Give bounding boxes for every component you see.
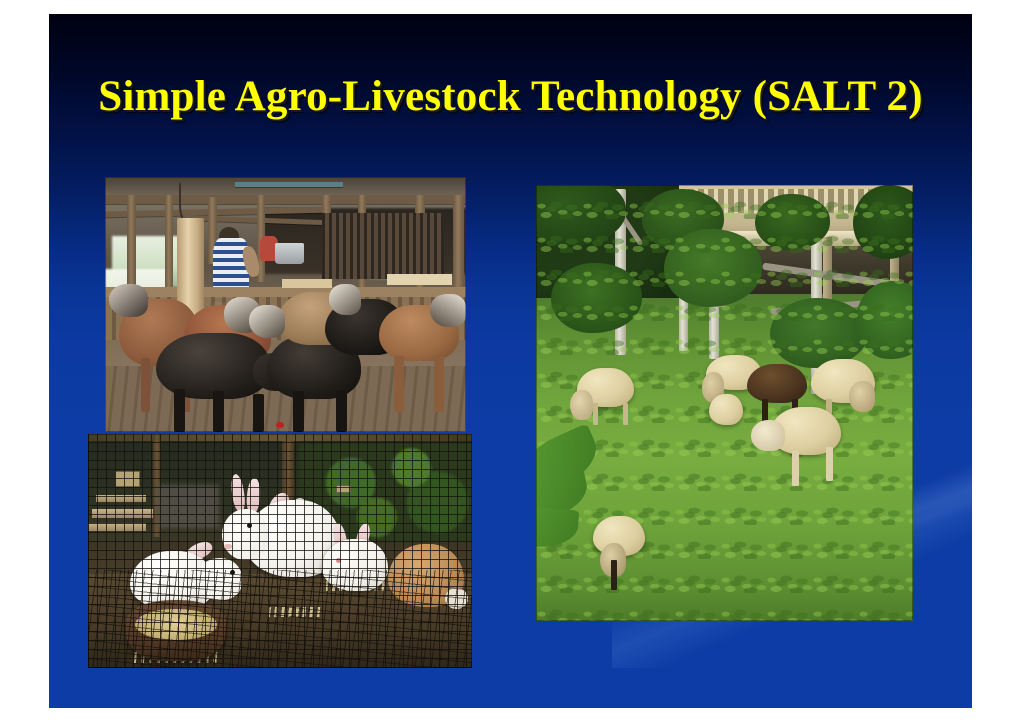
goat-head xyxy=(329,284,361,315)
sheep-head xyxy=(570,390,593,421)
barn-rail-plank xyxy=(282,279,333,288)
goat-head xyxy=(109,284,149,317)
cage-post xyxy=(88,434,472,441)
cage-label-tag xyxy=(336,485,351,493)
goat-head xyxy=(249,305,285,338)
cage-shadow-block xyxy=(157,485,218,527)
barn-slat-wall xyxy=(322,213,445,279)
sheep-head xyxy=(849,381,875,412)
rabbit-nose xyxy=(224,544,232,549)
cage-floor-pellets xyxy=(268,607,322,616)
sheep-leg xyxy=(826,447,833,482)
goat-leg xyxy=(213,391,224,432)
photo-goats-in-barn xyxy=(105,177,466,432)
barn-rail-plank xyxy=(387,274,452,285)
barn-beam xyxy=(235,182,343,187)
sheep-leg xyxy=(611,560,617,591)
goat-leg xyxy=(293,391,304,432)
goat-leg xyxy=(253,394,264,432)
rabbit-head xyxy=(222,509,268,560)
sheep-dark xyxy=(747,364,807,403)
barn-beam xyxy=(105,195,466,204)
barn-post xyxy=(165,195,173,297)
barn-pen-rail-top xyxy=(105,287,466,297)
photo-sheep-grazing xyxy=(536,185,913,621)
cage-plank xyxy=(92,509,161,518)
barn-red-marker xyxy=(276,422,283,429)
presentation-slide: Simple Agro-Livestock Technology (SALT 2… xyxy=(49,14,972,708)
cage-plank xyxy=(88,523,146,531)
sheep-leg xyxy=(593,403,598,425)
rabbit-feed-bowl xyxy=(126,600,226,661)
cage-label-tag xyxy=(115,471,140,486)
rabbit-feed-mash xyxy=(135,609,217,641)
slide-canvas: Simple Agro-Livestock Technology (SALT 2… xyxy=(0,0,1024,724)
goat-leg xyxy=(434,356,444,412)
rabbit-eye xyxy=(336,558,341,563)
barn-feed-bucket xyxy=(275,243,304,263)
rabbit-head xyxy=(326,542,368,582)
goat-head xyxy=(430,294,466,327)
sheep-leg xyxy=(792,451,799,486)
photo-rabbits-in-cage xyxy=(88,434,472,668)
goat-leg xyxy=(336,391,347,432)
rabbit-eye xyxy=(230,570,235,575)
sheep-lamb xyxy=(709,394,743,425)
sheep-head xyxy=(751,420,785,451)
rabbit-head xyxy=(196,558,242,600)
goat-leg xyxy=(394,356,404,412)
goat-leg xyxy=(141,358,150,412)
sheep-leg xyxy=(623,403,628,425)
cage-plank xyxy=(96,495,146,502)
page-title: Simple Agro-Livestock Technology (SALT 2… xyxy=(49,72,972,121)
goat-leg xyxy=(174,389,186,432)
